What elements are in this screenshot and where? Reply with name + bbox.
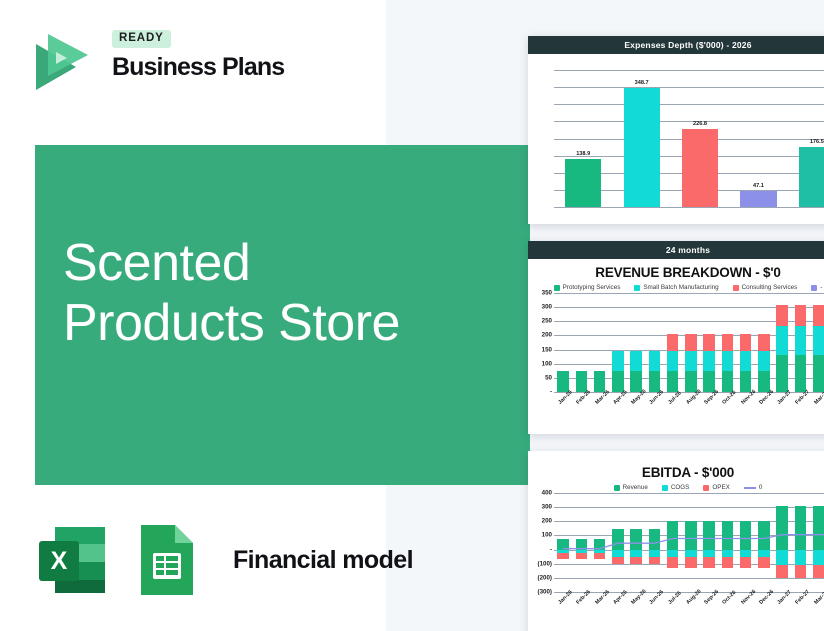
bar-segment	[594, 371, 605, 392]
chart-legend-ebitda: RevenueCOGSOPEX0	[528, 482, 824, 493]
bar-slot	[773, 293, 791, 392]
bar-segment	[703, 371, 714, 392]
y-tick-label: -	[550, 389, 552, 396]
slide-canvas: READY Business Plans Scented Products St…	[0, 0, 824, 631]
y-tick-label: 50	[545, 374, 552, 381]
bar-slot	[554, 293, 572, 392]
legend-item: 0	[744, 484, 763, 491]
x-tick-label: Oct-26	[722, 590, 738, 606]
bar-segment	[649, 371, 660, 392]
footer-format-row: X Financial model	[33, 519, 413, 601]
stacked-bar	[685, 293, 696, 392]
bar-segment	[722, 351, 733, 371]
gridline	[554, 207, 824, 208]
bar-segment	[703, 351, 714, 371]
x-tick-label: Oct-26	[722, 390, 738, 406]
bar-segment	[722, 371, 733, 392]
bar-slot	[791, 293, 809, 392]
play-triangles-logo-icon	[26, 30, 94, 96]
chart-title-expenses: Expenses Depth ($'000) - 2026	[528, 36, 824, 54]
bar-slot	[718, 293, 736, 392]
y-tick-label: 350	[542, 290, 552, 297]
y-tick-label: -	[550, 546, 552, 553]
stacked-bar	[612, 293, 623, 392]
legend-color-swatch	[662, 485, 668, 491]
brand-wordmark: READY Business Plans	[112, 28, 292, 80]
bar-slot: 47.1	[729, 70, 787, 207]
bar-slot	[627, 293, 645, 392]
x-tick: Feb-27	[791, 392, 809, 418]
bar-segment	[813, 305, 824, 325]
bar-slot	[609, 293, 627, 392]
bar-segment	[758, 351, 769, 371]
bar-slot	[810, 293, 824, 392]
x-tick: Jul-26	[664, 392, 682, 418]
x-tick: Aug-26	[682, 392, 700, 418]
x-tick: Aug-26	[682, 592, 700, 618]
bar-segment	[740, 351, 751, 371]
stacked-bar	[667, 293, 678, 392]
x-tick-label: Jul-26	[667, 590, 682, 605]
bar-segment	[612, 371, 623, 392]
ready-badge: READY	[112, 30, 171, 48]
x-tick: Nov-26	[737, 592, 755, 618]
bar-segment	[685, 351, 696, 371]
x-axis: Jan-26Feb-26Mar-26Apr-26May-26Jun-26Jul-…	[554, 392, 824, 418]
bar-segment	[758, 334, 769, 351]
x-tick: Apr-26	[609, 392, 627, 418]
legend-label: Prototyping Services	[563, 284, 621, 291]
y-tick-label: 100	[542, 360, 552, 367]
x-tick: Dec-26	[755, 592, 773, 618]
bar-value-label: 348.7	[635, 80, 649, 86]
bar-segment	[813, 355, 824, 392]
bar-segment	[630, 351, 641, 371]
legend-label: Small Batch Manufacturing	[643, 284, 718, 291]
bar-segment	[776, 355, 787, 392]
chart-title-revenue: REVENUE BREAKDOWN - $'0	[528, 259, 824, 282]
x-tick: Jul-26	[664, 592, 682, 618]
legend-color-swatch	[614, 485, 620, 491]
legend-line-swatch	[744, 487, 756, 489]
bar-segment	[795, 305, 806, 325]
legend-item: OPEX	[703, 484, 730, 491]
chart-header-24-months: 24 months	[528, 241, 824, 259]
legend-item: Consulting Services	[733, 284, 798, 291]
legend-color-swatch	[733, 285, 739, 291]
x-tick: Jan-27	[773, 592, 791, 618]
title-banner: Scented Products Store	[35, 145, 530, 485]
stacked-bar	[557, 293, 568, 392]
chart-card-expenses[interactable]: Expenses Depth ($'000) - 2026 138.9348.7…	[528, 36, 824, 224]
svg-text:X: X	[51, 547, 68, 575]
x-tick: Nov-26	[737, 392, 755, 418]
bar-segment	[758, 371, 769, 392]
chart-legend-revenue: Prototyping ServicesSmall Batch Manufact…	[528, 282, 824, 293]
legend-item: -	[811, 284, 822, 291]
legend-label: OPEX	[712, 484, 730, 491]
bar-slot: 226.8	[671, 70, 729, 207]
legend-label: 0	[759, 484, 763, 491]
x-tick: Apr-26	[609, 592, 627, 618]
x-tick: Oct-26	[718, 592, 736, 618]
y-tick-label: (300)	[538, 589, 552, 596]
plot-area-revenue: 35030025020015010050-Jan-26Feb-26Mar-26A…	[528, 293, 824, 418]
x-tick: Sep-26	[700, 392, 718, 418]
bar-slot	[700, 293, 718, 392]
chart-card-ebitda[interactable]: EBITDA - $'000 RevenueCOGSOPEX0 40030020…	[528, 451, 824, 631]
legend-color-swatch	[811, 285, 817, 291]
bar-group	[554, 293, 824, 392]
stacked-bar	[740, 293, 751, 392]
stacked-bar	[776, 293, 787, 392]
bar-slot: 176.5	[788, 70, 824, 207]
page-title: Scented Products Store	[63, 233, 513, 354]
bar-segment	[776, 326, 787, 355]
bar-segment	[776, 305, 787, 325]
x-tick: Jun-26	[645, 392, 663, 418]
brand-logo[interactable]: READY Business Plans	[26, 28, 286, 100]
bar-value-label: 47.1	[753, 183, 764, 189]
x-tick: May-26	[627, 392, 645, 418]
bar: 138.9	[565, 159, 601, 207]
legend-color-swatch	[554, 285, 560, 291]
bar-slot	[591, 293, 609, 392]
bar-segment	[667, 334, 678, 351]
stacked-bar	[795, 293, 806, 392]
x-tick: Mar-26	[591, 592, 609, 618]
x-tick-label: Jul-26	[667, 390, 682, 405]
page-title-line-2: Products Store	[63, 293, 513, 353]
bar: 176.5	[799, 147, 824, 207]
y-tick-label: (100)	[538, 560, 552, 567]
chart-card-revenue[interactable]: 24 months REVENUE BREAKDOWN - $'0 Protot…	[528, 241, 824, 434]
stacked-bar	[630, 293, 641, 392]
bar-slot: 138.9	[554, 70, 612, 207]
bar-segment	[813, 326, 824, 355]
bar-segment	[649, 351, 660, 371]
x-tick: Oct-26	[718, 392, 736, 418]
microsoft-excel-icon[interactable]: X	[33, 521, 111, 599]
y-tick-label: 250	[542, 318, 552, 325]
legend-label: Consulting Services	[742, 284, 798, 291]
bar-segment	[667, 351, 678, 371]
bar: 47.1	[740, 191, 776, 207]
bar-segment	[685, 334, 696, 351]
legend-item: Prototyping Services	[554, 284, 621, 291]
ebitda-line-series	[554, 493, 824, 592]
bar-segment	[795, 326, 806, 355]
y-tick-label: 150	[542, 346, 552, 353]
bar-segment	[612, 351, 623, 371]
y-tick-label: (200)	[538, 574, 552, 581]
x-tick: Jan-26	[554, 392, 572, 418]
bar-slot	[755, 293, 773, 392]
page-title-line-1: Scented	[63, 233, 513, 293]
bar-segment	[703, 334, 714, 351]
bar-value-label: 138.9	[576, 151, 590, 157]
y-axis: 35030025020015010050-	[528, 293, 554, 392]
stacked-bar	[703, 293, 714, 392]
bar: 226.8	[682, 129, 718, 207]
google-sheets-icon[interactable]	[133, 521, 201, 599]
y-tick-label: 200	[542, 518, 552, 525]
legend-item: Revenue	[614, 484, 648, 491]
plot-area-ebitda: 400300200100-(100)(200)(300)Jan-26Feb-26…	[528, 493, 824, 618]
stacked-bar	[594, 293, 605, 392]
bar-group: 138.9348.7226.847.1176.5	[554, 70, 824, 207]
stacked-bar	[722, 293, 733, 392]
bar-segment	[576, 371, 587, 392]
bar-segment	[795, 355, 806, 392]
x-tick: Feb-27	[791, 592, 809, 618]
bar-slot	[682, 293, 700, 392]
x-axis: Jan-26Feb-26Mar-26Apr-26May-26Jun-26Jul-…	[554, 592, 824, 618]
x-tick: Mar-27	[810, 392, 824, 418]
x-tick: Jan-27	[773, 392, 791, 418]
bar-segment	[667, 371, 678, 392]
bar-segment	[740, 371, 751, 392]
bar-segment	[630, 371, 641, 392]
bar-slot	[572, 293, 590, 392]
bar-slot	[664, 293, 682, 392]
bar-value-label: 176.5	[810, 139, 824, 145]
legend-color-swatch	[634, 285, 640, 291]
y-tick-label: 200	[542, 332, 552, 339]
x-tick: May-26	[627, 592, 645, 618]
y-tick-label: 100	[542, 532, 552, 539]
x-tick: Mar-27	[810, 592, 824, 618]
x-tick-label: Mar-27	[813, 389, 824, 406]
bar-segment	[557, 371, 568, 392]
brand-name: Business Plans	[112, 54, 292, 80]
stacked-bar	[758, 293, 769, 392]
bar-segment	[740, 334, 751, 351]
bar-slot	[737, 293, 755, 392]
bar-slot	[645, 293, 663, 392]
x-tick-label: Mar-27	[813, 589, 824, 606]
y-axis: 400300200100-(100)(200)(300)	[528, 493, 554, 592]
legend-item: COGS	[662, 484, 690, 491]
legend-label: -	[820, 284, 822, 291]
y-tick-label: 400	[542, 490, 552, 497]
chart-title-ebitda: EBITDA - $'000	[528, 451, 824, 482]
x-tick: Dec-26	[755, 392, 773, 418]
x-tick: Jan-26	[554, 592, 572, 618]
footer-label: Financial model	[233, 546, 413, 575]
plot-area-expenses: 138.9348.7226.847.1176.5	[528, 56, 824, 211]
x-tick: Jun-26	[645, 592, 663, 618]
x-tick: Feb-26	[572, 592, 590, 618]
bar-slot: 348.7	[612, 70, 670, 207]
bar-segment	[685, 371, 696, 392]
legend-item: Small Batch Manufacturing	[634, 284, 718, 291]
stacked-bar	[576, 293, 587, 392]
bar-value-label: 226.8	[693, 121, 707, 127]
x-tick: Feb-26	[572, 392, 590, 418]
y-tick-label: 300	[542, 304, 552, 311]
legend-color-swatch	[703, 485, 709, 491]
bar-segment	[722, 334, 733, 351]
x-tick: Sep-26	[700, 592, 718, 618]
legend-label: Revenue	[623, 484, 648, 491]
x-tick: Mar-26	[591, 392, 609, 418]
stacked-bar	[649, 293, 660, 392]
bar: 348.7	[624, 88, 660, 207]
y-tick-label: 300	[542, 504, 552, 511]
stacked-bar	[813, 293, 824, 392]
legend-label: COGS	[671, 484, 690, 491]
